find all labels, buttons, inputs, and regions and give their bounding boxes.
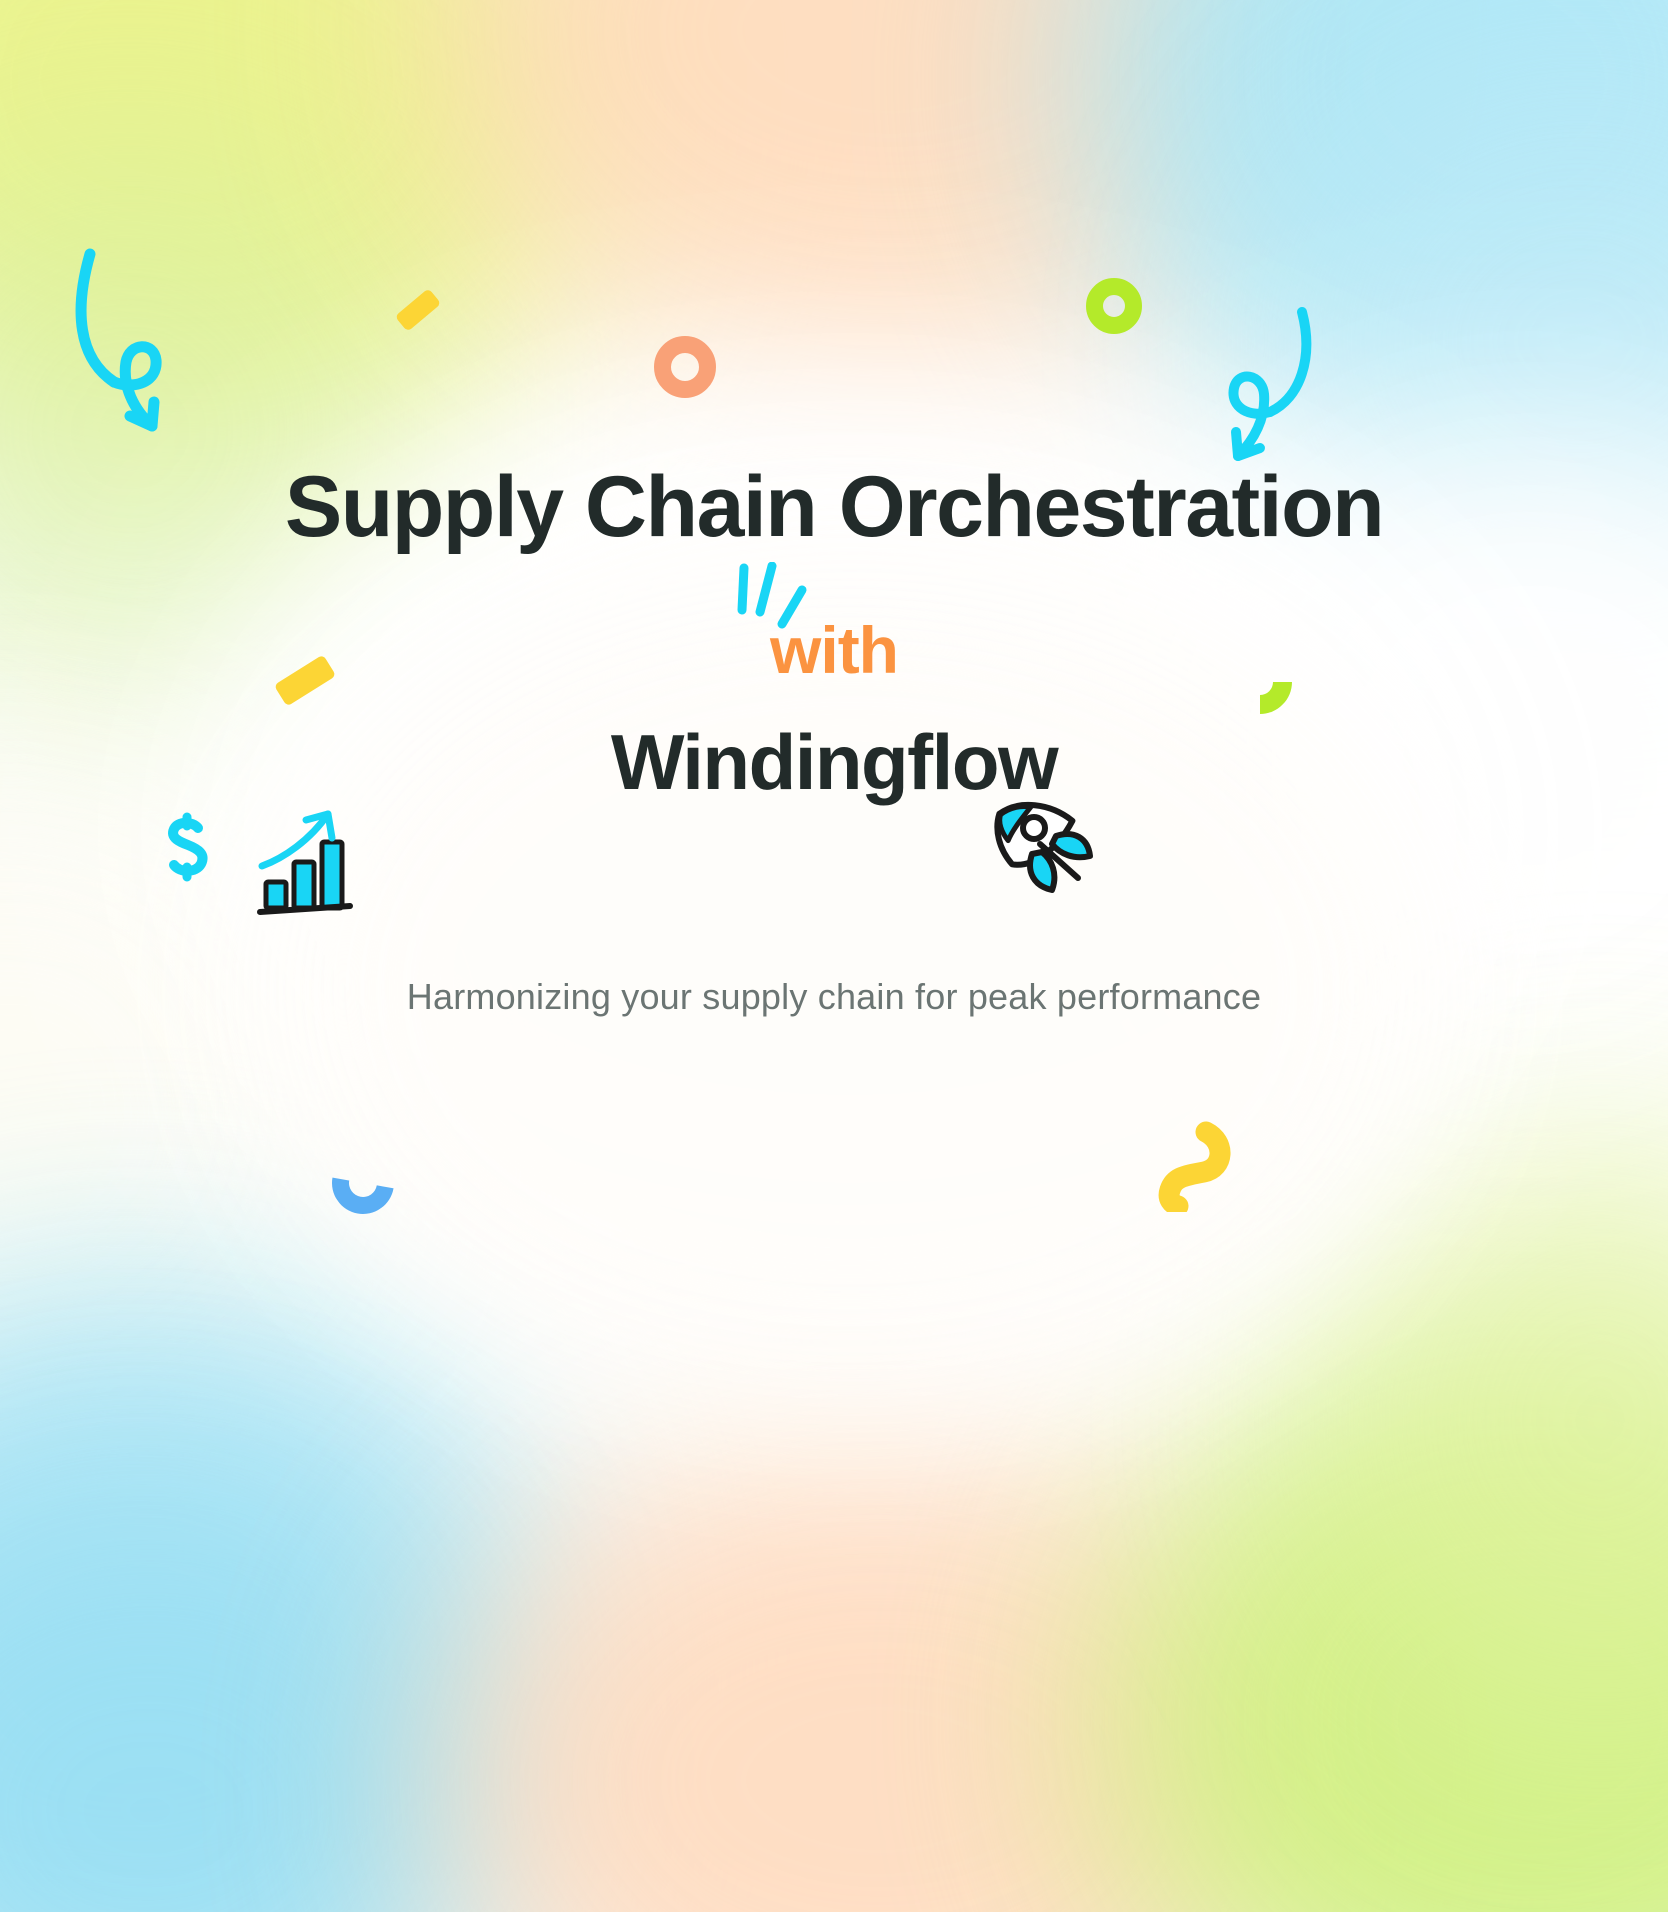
brand-name: Windingflow xyxy=(0,722,1668,804)
page-title: Supply Chain Orchestration xyxy=(0,462,1668,552)
connector-word: with xyxy=(0,616,1668,685)
slide-canvas: Supply Chain Orchestration with Windingf… xyxy=(0,0,1668,1912)
page-subtitle: Harmonizing your supply chain for peak p… xyxy=(0,976,1668,1018)
hero-text-block: Supply Chain Orchestration with Windingf… xyxy=(0,0,1668,1912)
